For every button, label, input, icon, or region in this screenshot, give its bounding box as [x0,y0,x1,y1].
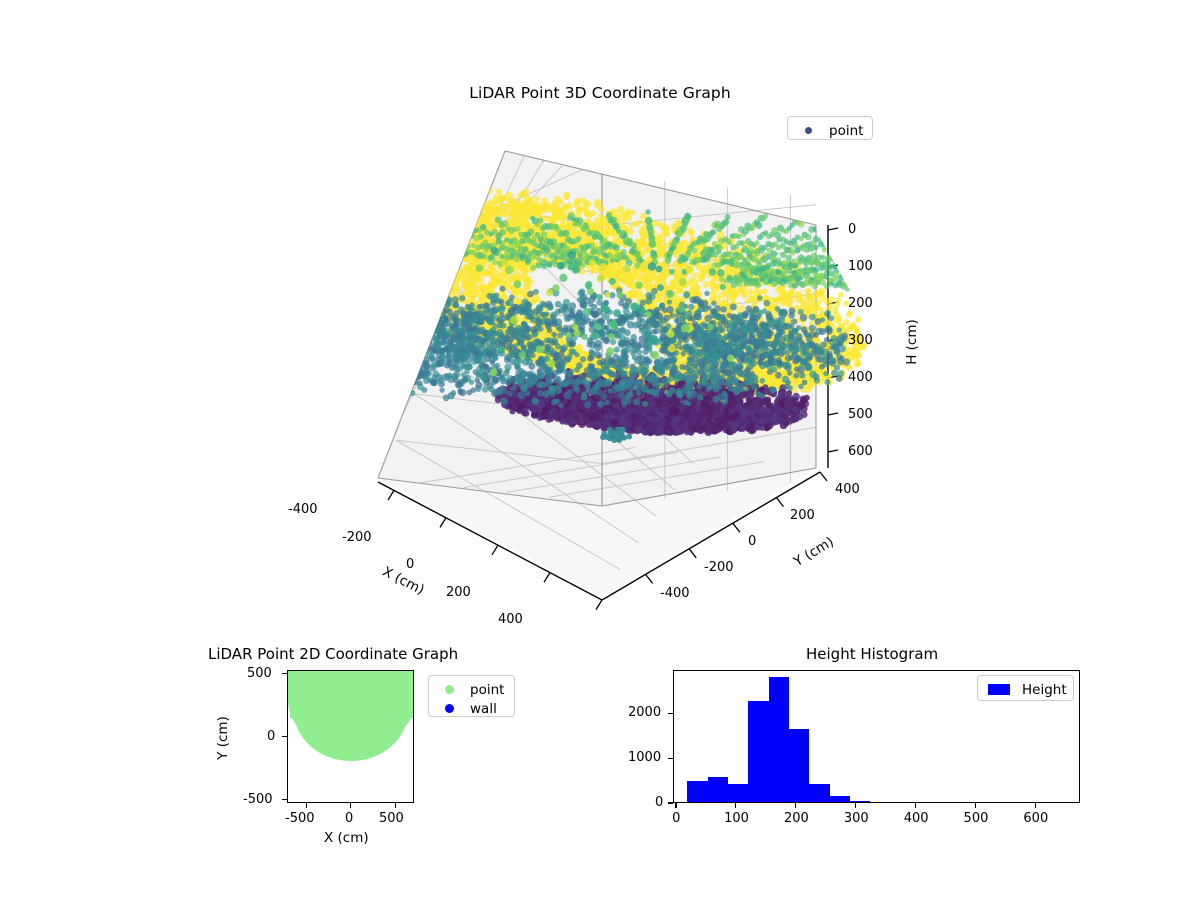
x-tick-200: 200 [446,585,471,600]
chart-2d-title: LiDAR Point 2D Coordinate Graph [208,645,458,663]
x-tick-400: 400 [498,612,523,627]
histogram-bar [728,784,748,802]
x-tick--400: -400 [288,502,318,517]
x2d-tick--500: -500 [285,811,315,826]
h-axis-label: H (cm) [904,319,920,365]
histogram-bar [830,796,850,802]
tick-hist-x-600 [1035,803,1036,808]
tick-hist-x-0 [675,803,676,808]
tick-hist-y-2000 [668,713,673,714]
histogram-bar [809,784,829,802]
hist-x-tick-0: 0 [672,811,680,826]
lidar-2d-axes[interactable] [287,670,414,803]
legend-label-point-2d: point [462,682,504,698]
y2d-tick--500: -500 [243,792,273,807]
wall-marker-icon [436,704,462,713]
tick-hist-x-500 [975,803,976,808]
tick-hist-x-100 [735,803,736,808]
figure-canvas: LiDAR Point 3D Coordinate Graph [0,0,1200,900]
legend-3d[interactable]: point [787,116,873,140]
tick-2d-y-0 [282,736,287,737]
h-tick-100: 100 [848,259,873,274]
h-tick-0: 0 [848,222,856,237]
legend-item-height[interactable]: Height [984,680,1067,699]
tick-hist-y-1000 [668,758,673,759]
h-tick-200: 200 [848,296,873,311]
x-tick-0: 0 [406,557,414,572]
hist-x-tick-100: 100 [724,811,749,826]
legend-histogram[interactable]: Height [977,675,1074,701]
h-tick-400: 400 [848,370,873,385]
tick-2d-y-500 [282,673,287,674]
histogram-bar [687,781,707,802]
hist-x-tick-300: 300 [844,811,869,826]
histogram-bar [708,777,728,802]
h-tick-300: 300 [848,333,873,348]
hist-y-tick-2000: 2000 [628,705,661,720]
hist-x-tick-500: 500 [964,811,989,826]
y2d-axis-label: Y (cm) [215,712,231,764]
h-tick-600: 600 [848,444,873,459]
tick-2d-y--500 [282,799,287,800]
hist-x-tick-400: 400 [904,811,929,826]
x2d-axis-label: X (cm) [324,830,369,846]
lidar-3d-canvas [300,130,940,630]
histogram-bar [789,729,809,802]
y-tick--400: -400 [660,586,690,601]
tick-hist-y-0 [668,802,673,803]
histogram-bar [748,701,768,802]
histogram-bar [769,677,789,802]
legend-label-wall: wall [462,701,497,717]
histogram-bar [850,801,870,802]
tick-hist-x-200 [795,803,796,808]
tick-hist-x-400 [915,803,916,808]
tick-hist-x-300 [855,803,856,808]
point-marker-icon [436,685,462,694]
y-tick-0: 0 [748,534,756,549]
legend-2d[interactable]: point wall [428,675,515,717]
h-tick-500: 500 [848,407,873,422]
lidar-3d-axes[interactable]: -400 -200 0 200 400 -400 -200 0 200 400 … [300,130,940,630]
y2d-tick-0: 0 [267,729,275,744]
point-cloud-2d-bottom [294,711,408,761]
y-tick-400: 400 [835,482,860,497]
legend-item-point[interactable]: point [795,121,865,140]
tick-2d-x-500 [395,803,396,808]
hist-x-tick-600: 600 [1023,811,1048,826]
histogram-title: Height Histogram [806,645,938,663]
legend-item-point-2d[interactable]: point [436,680,507,699]
legend-label-height: Height [1014,682,1067,698]
y-tick--200: -200 [704,560,734,575]
y-tick-200: 200 [790,508,815,523]
point-marker-icon [795,127,821,134]
hist-y-tick-0: 0 [655,795,663,810]
x2d-tick-500: 500 [379,811,404,826]
tick-2d-x--500 [306,803,307,808]
y2d-tick-500: 500 [247,666,272,681]
hist-x-tick-200: 200 [784,811,809,826]
hist-y-tick-1000: 1000 [628,750,661,765]
x-tick--200: -200 [342,530,372,545]
tick-2d-x-0 [350,803,351,808]
legend-label-point: point [821,123,863,139]
x2d-tick-0: 0 [345,811,353,826]
legend-item-wall[interactable]: wall [436,699,507,718]
chart-3d-title: LiDAR Point 3D Coordinate Graph [0,84,1200,102]
height-swatch-icon [984,684,1014,695]
